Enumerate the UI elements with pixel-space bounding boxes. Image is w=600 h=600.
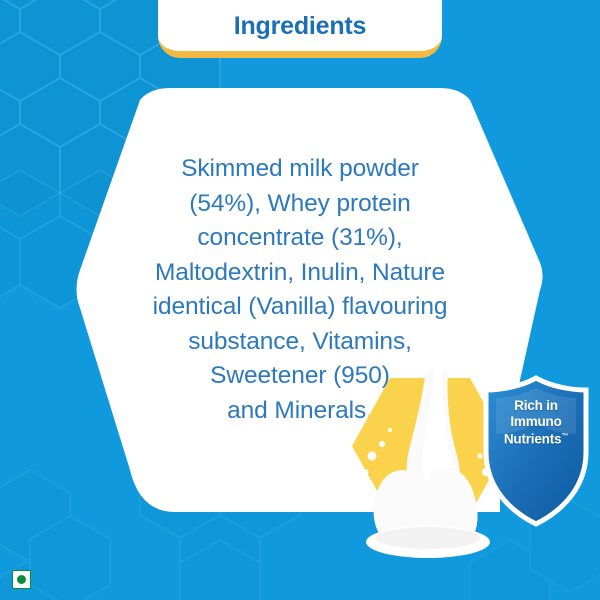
ingredients-panel: Ingredients Skimmed milk powder (54%), W… [0, 0, 600, 600]
vegetarian-mark-dot [17, 575, 26, 584]
shield-icon [478, 374, 594, 530]
ingredients-title-tab: Ingredients [158, 0, 442, 58]
page-title: Ingredients [234, 14, 367, 51]
vegetarian-mark-icon [12, 570, 31, 589]
